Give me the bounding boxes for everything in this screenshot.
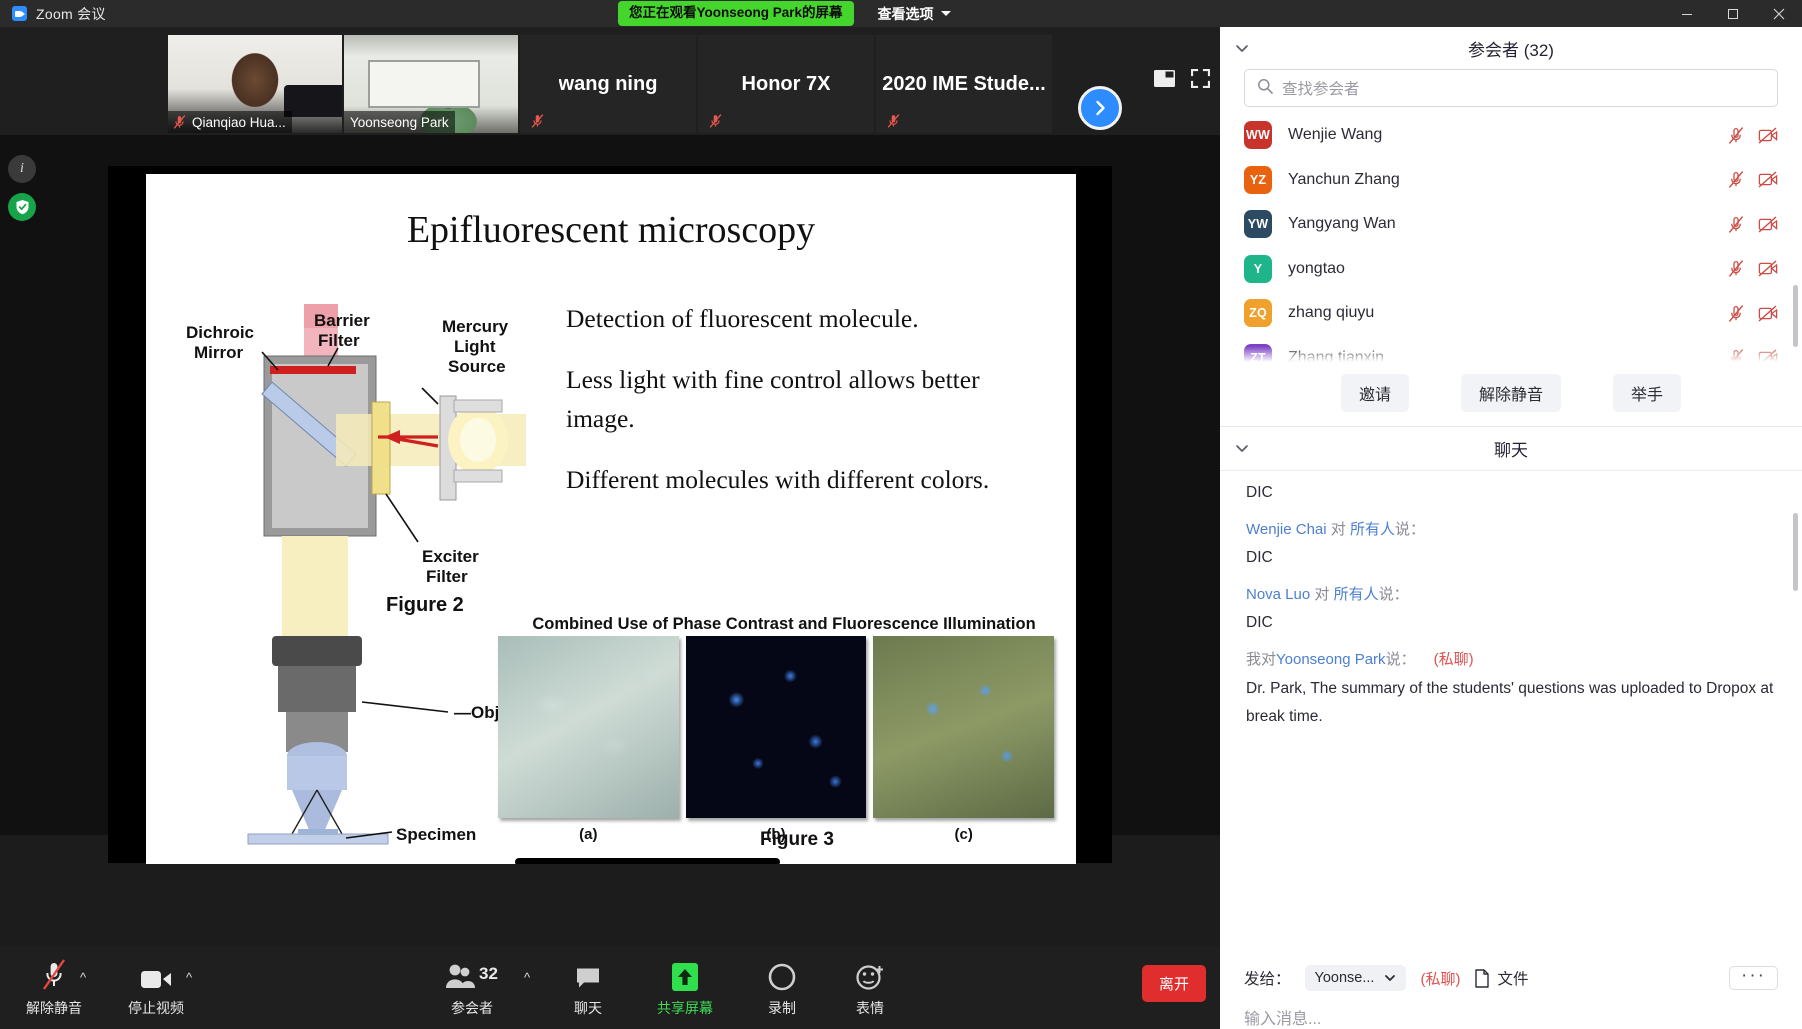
participant-status-icons [1727,259,1778,278]
chat-message-private: 我对Yoonseong Park说：(私聊) Dr. Park, The sum… [1246,646,1776,732]
participant-name: Yanchun Zhang [1288,171,1727,189]
title-bar: Zoom 会议 您正在观看Yoonseong Park的屏幕 查看选项 [0,0,1802,27]
participant-name: zhang qiuyu [1288,304,1727,322]
avatar: YW [1244,210,1272,238]
svg-text:Specimen: Specimen [396,825,476,844]
chevron-down-icon [1384,972,1396,984]
avatar: WW [1244,121,1272,149]
close-button[interactable] [1756,0,1802,27]
shared-screen-frame: Epifluorescent microscopy [108,166,1112,863]
svg-text:Barrier: Barrier [314,311,370,330]
mic-off-icon [39,954,69,992]
figure3-label: Figure 3 [760,829,834,851]
zoom-logo-icon [12,6,27,21]
record-icon [767,954,797,992]
participant-name: yongtao [1288,260,1727,278]
slide-bullets: Detection of fluorescent molecule. Less … [566,299,1016,520]
layout-view-icon[interactable] [1154,70,1175,92]
mic-off-icon[interactable] [1727,170,1745,189]
sharing-status-group: 您正在观看Yoonseong Park的屏幕 查看选项 [618,0,951,27]
participants-panel-header: 参会者 (32) [1220,27,1802,69]
search-input[interactable]: 查找参会者 [1244,69,1778,107]
meeting-toolbar: 解除静音 ^ 停止视频 ^ [0,946,1220,1029]
toolbar-participants-button[interactable]: 32 参会者 [424,954,520,1018]
mic-off-icon [886,113,901,129]
zoom-meeting-window: Zoom 会议 您正在观看Yoonseong Park的屏幕 查看选项 [0,0,1802,1029]
toolbar-video-caret[interactable]: ^ [186,970,192,985]
participant-status-icons [1727,170,1778,189]
toolbar-label: 解除静音 [26,998,82,1018]
slide-bullet-1: Less light with fine control allows bett… [566,360,1016,439]
more-options-button[interactable]: ··· [1729,966,1778,989]
slide-bullet-0: Detection of fluorescent molecule. [566,299,1016,339]
toolbar-label: 表情 [856,998,884,1018]
toolbar-participants-caret[interactable]: ^ [524,970,530,985]
maximize-button[interactable] [1710,0,1756,27]
chat-message-list[interactable]: DIC Wenjie Chai 对 所有人说： DIC Nova Luo 对 所… [1220,471,1802,801]
slide-title: Epifluorescent microscopy [146,208,1076,252]
chat-message-text: DIC [1246,479,1776,508]
mic-off-icon[interactable] [1727,304,1745,323]
participant-filmstrip: Qianqiao Hua... Yoonseong Park wang ning [0,27,1220,135]
right-side-panel: 参会者 (32) 查找参会者 WW Wenjie Wang YZ [1220,27,1802,1029]
private-tag: (私聊) [1434,651,1474,668]
list-fade [1220,346,1802,362]
slide-bullet-2: Different molecules with different color… [566,460,1016,500]
video-off-icon[interactable] [1758,171,1778,188]
minimize-button[interactable] [1664,0,1710,27]
toolbar-label: 参会者 [451,998,493,1018]
toolbar-audio-caret[interactable]: ^ [80,970,86,985]
video-off-icon[interactable] [1758,216,1778,233]
raise-hand-button[interactable]: 举手 [1613,374,1681,412]
share-screen-icon [670,954,700,992]
info-icon[interactable]: i [8,155,36,183]
svg-text:Light: Light [454,337,496,356]
participants-scrollbar[interactable] [1793,285,1798,347]
chat-footer: 发给： Yoonse... (私聊) 文件 ··· 输入消息... [1220,953,1802,1029]
filmstrip-thumb-label: wang ning [559,73,658,96]
toolbar-stop-video-button[interactable]: 停止视频 [108,954,204,1018]
participants-search: 查找参会者 [1220,69,1802,107]
filmstrip-thumb-label: Qianqiao Hua... [168,111,292,133]
figure3-caption: Combined Use of Phase Contrast and Fluor… [524,615,1044,634]
filmstrip-thumb-4[interactable]: 2020 IME Stude... [876,35,1052,133]
participant-status-icons [1727,215,1778,234]
toolbar-chat-button[interactable]: 聊天 [540,954,636,1018]
svg-text:Filter: Filter [318,331,360,350]
chat-message-sender: Wenjie Chai 对 所有人说： [1246,516,1776,545]
video-off-icon[interactable] [1758,260,1778,277]
chat-scrollbar[interactable] [1793,513,1798,591]
chat-recipient: Yoonseong Park [1276,651,1386,668]
chat-panel-title: 聊天 [1494,436,1528,461]
svg-text:Dichroic: Dichroic [186,323,254,342]
filmstrip-next-button[interactable] [1078,86,1122,130]
chat-says-word: 说： [1386,651,1416,668]
stage-status-icons: i [8,155,36,221]
send-to-select[interactable]: Yoonse... [1305,965,1407,991]
reactions-icon [855,954,885,992]
chat-recipient: 所有人 [1350,521,1395,538]
search-icon [1257,78,1273,99]
presentation-slide: Epifluorescent microscopy [146,174,1076,864]
unmute-all-button[interactable]: 解除静音 [1461,374,1561,412]
svg-text:Filter: Filter [426,567,468,586]
cell-label-a: (a) [498,826,679,843]
participant-status-icons [1727,304,1778,323]
filmstrip-thumb-0[interactable]: Qianqiao Hua... [168,35,342,133]
mic-off-icon[interactable] [1727,215,1745,234]
cell-image-a: (a) [498,636,679,818]
filmstrip-thumb-1[interactable]: Yoonseong Park [344,35,518,133]
toolbar-unmute-button[interactable]: 解除静音 [6,954,102,1018]
chat-to-word: 对 [1331,521,1346,538]
participant-name: Yangyang Wan [1288,215,1727,233]
svg-text:Mirror: Mirror [194,343,244,362]
toolbar-label: 录制 [768,998,796,1018]
chat-recipient: 所有人 [1334,586,1379,603]
window-controls [1664,0,1802,27]
mic-off-icon [708,113,723,129]
svg-text:32: 32 [479,964,498,983]
filmstrip-thumb-3[interactable]: Honor 7X [698,35,874,133]
chat-icon [574,954,602,992]
participant-row[interactable]: ZQ zhang qiuyu [1220,291,1802,336]
svg-text:Exciter: Exciter [422,547,479,566]
chat-sender-name: Wenjie Chai [1246,521,1327,538]
participant-row[interactable]: YZ Yanchun Zhang [1220,158,1802,203]
participant-row[interactable]: YW Yangyang Wan [1220,202,1802,247]
app-title: Zoom 会议 [36,4,106,24]
chevron-right-icon [1090,98,1110,118]
mic-off-icon[interactable] [1727,126,1745,145]
chevron-down-icon [941,11,951,16]
slide-horizontal-scrollbar[interactable] [515,858,780,864]
shared-screen-stage: i Epifluorescent microscopy [0,135,1220,835]
view-options-button[interactable]: 查看选项 [878,4,951,24]
participant-row[interactable]: WW Wenjie Wang [1220,113,1802,158]
chat-message-text: Dr. Park, The summary of the students' q… [1246,675,1776,732]
chat-panel-header: 聊天 [1220,427,1802,471]
chevron-down-icon[interactable] [1234,440,1250,461]
toolbar-record-button[interactable]: 录制 [734,954,830,1018]
chat-message-text: DIC [1246,544,1776,573]
chevron-down-icon[interactable] [1234,40,1250,61]
chat-message-sender: 我对Yoonseong Park说：(私聊) [1246,646,1776,675]
toolbar-reactions-button[interactable]: 表情 [822,954,918,1018]
filmstrip-thumb-label: Yoonseong Park [344,111,455,133]
microscope-diagram: Dichroic Mirror Barrier Filter Mercury L… [186,304,546,849]
filmstrip-thumb-2[interactable]: wang ning [520,35,696,133]
leave-meeting-button[interactable]: 离开 [1142,965,1206,1002]
file-icon [1474,969,1490,988]
invite-button[interactable]: 邀请 [1341,374,1409,412]
participants-actions: 邀请 解除静音 举手 [1220,362,1802,427]
chat-send-row: 发给： Yoonse... (私聊) 文件 ··· [1244,965,1778,991]
video-off-icon[interactable] [1758,127,1778,144]
figure2-label: Figure 2 [386,594,464,617]
chat-message-text: DIC [1246,609,1776,638]
send-to-value: Yoonse... [1315,970,1375,986]
chat-sender-name: 我对 [1246,651,1276,668]
chat-says-word: 说： [1379,586,1409,603]
fullscreen-icon[interactable] [1191,69,1210,93]
mic-off-icon [530,113,545,129]
participants-panel-title: 参会者 (32) [1468,36,1554,61]
chat-message: Nova Luo 对 所有人说： DIC [1246,581,1776,638]
send-to-label: 发给： [1244,967,1291,989]
participants-icon: 32 [443,954,501,992]
avatar: Y [1244,255,1272,283]
cell-image-c: (c) [873,636,1054,818]
toolbar-label: 共享屏幕 [657,998,713,1018]
private-tag: (私聊) [1420,968,1460,989]
chat-says-word: 说： [1395,521,1425,538]
filmstrip-thumb-label: 2020 IME Stude... [882,73,1045,96]
svg-text:Source: Source [448,357,506,376]
view-options-label: 查看选项 [878,4,934,24]
chat-message-input[interactable]: 输入消息... [1244,1005,1778,1029]
sharing-banner: 您正在观看Yoonseong Park的屏幕 [618,1,854,26]
participant-row[interactable]: Y yongtao [1220,247,1802,292]
shield-check-icon[interactable] [8,193,36,221]
video-off-icon[interactable] [1758,305,1778,322]
toolbar-label: 聊天 [574,998,602,1018]
toolbar-label: 停止视频 [128,998,184,1018]
mic-off-icon[interactable] [1727,259,1745,278]
svg-text:Mercury: Mercury [442,317,509,336]
chat-message: Wenjie Chai 对 所有人说： DIC [1246,516,1776,573]
avatar: YZ [1244,166,1272,194]
chat-to-word: 对 [1314,586,1329,603]
video-icon [139,954,173,992]
cell-image-b: (b) [686,636,867,818]
chat-sender-name: Nova Luo [1246,586,1310,603]
toolbar-share-screen-button[interactable]: 共享屏幕 [637,954,733,1018]
meeting-main-area: Qianqiao Hua... Yoonseong Park wang ning [0,27,1220,1029]
filmstrip-thumb-label: Honor 7X [742,73,831,96]
mic-off-icon [172,114,187,130]
cell-label-c: (c) [873,826,1054,843]
more-horizontal-icon: ··· [1741,965,1766,986]
file-label: 文件 [1497,967,1528,989]
participant-status-icons [1727,126,1778,145]
avatar: ZQ [1244,299,1272,327]
figure3-images: (a) (b) (c) [498,636,1054,818]
search-placeholder: 查找参会者 [1282,77,1360,99]
filmstrip-controls [1154,69,1210,93]
chat-message-sender: Nova Luo 对 所有人说： [1246,581,1776,610]
chat-message: DIC [1246,479,1776,508]
attach-file-button[interactable]: 文件 [1474,967,1528,989]
participant-name: Wenjie Wang [1288,126,1727,144]
participants-list[interactable]: WW Wenjie Wang YZ Yanchun Zhang YW Yangy… [1220,107,1802,362]
